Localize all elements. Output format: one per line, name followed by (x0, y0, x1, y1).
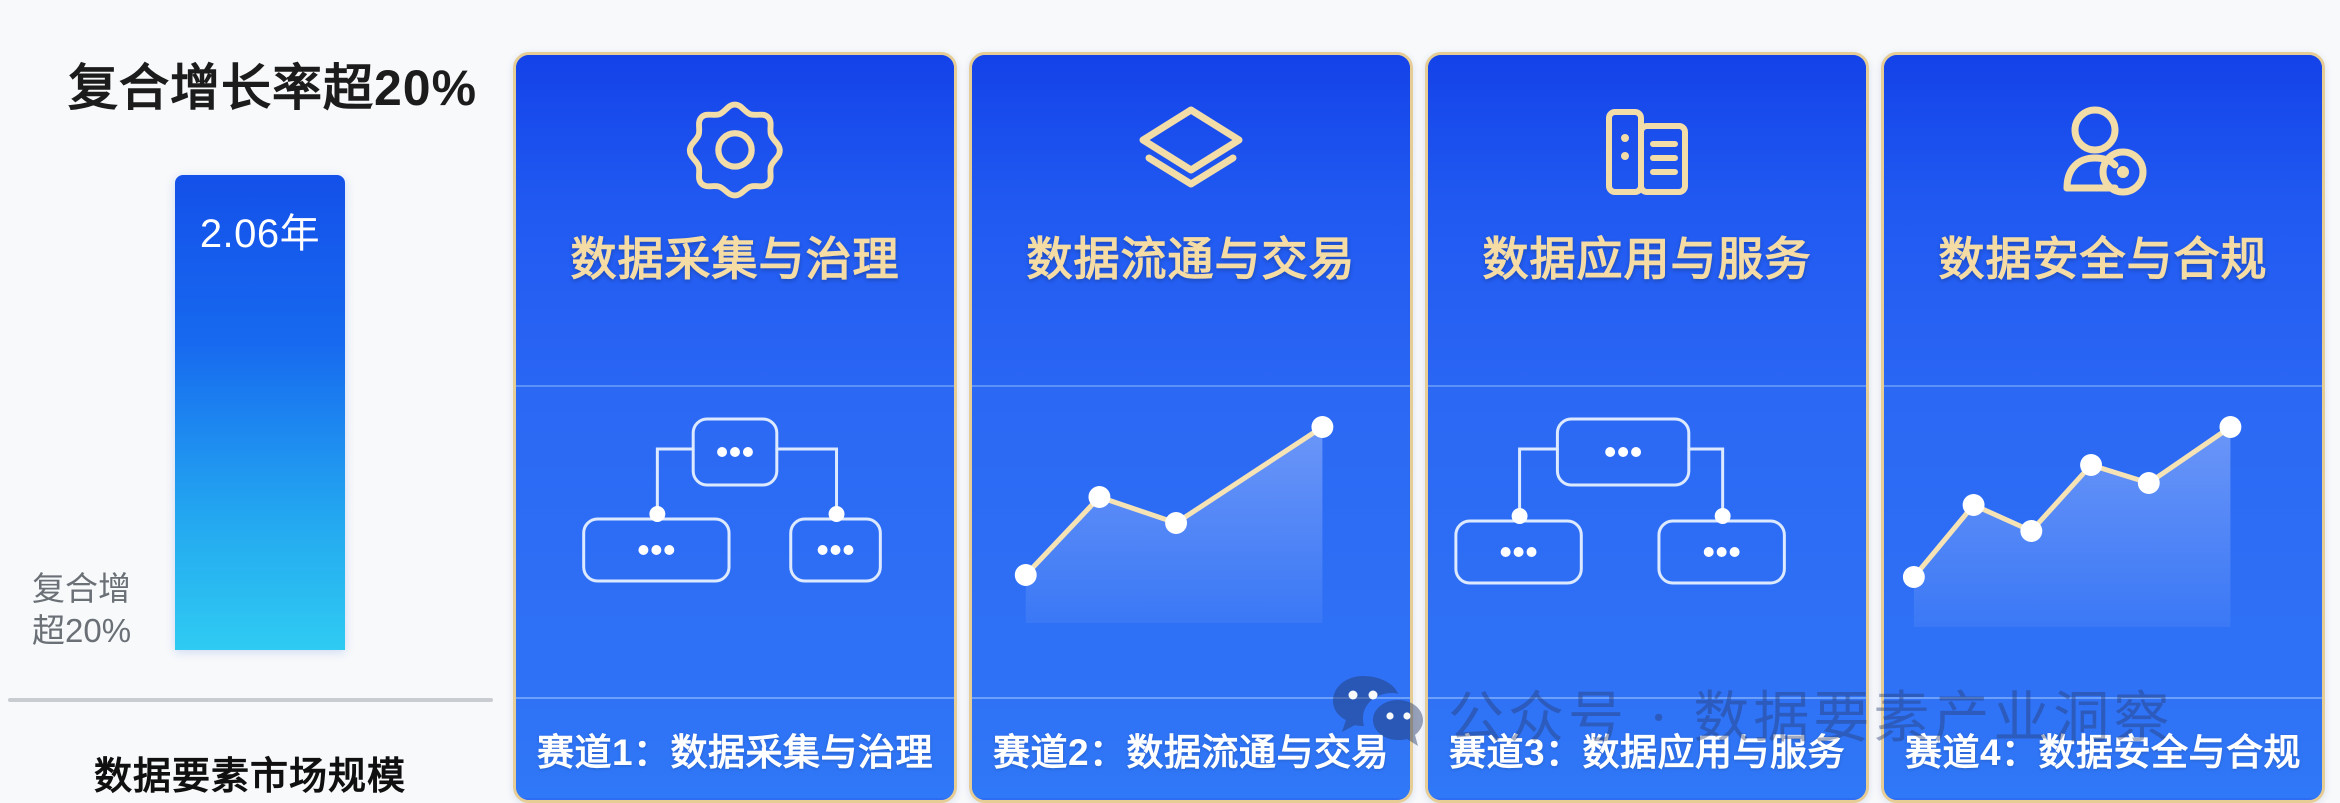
card-visual-1 (516, 385, 954, 697)
track-cards-row: 数据采集与治理 赛道1：数据采集与治 (513, 52, 2325, 797)
market-size-bar: 2.06年 (175, 175, 345, 650)
market-size-panel: 复合增长率超20% 复合增超20% 2.06年 数据要素市场规模 (0, 0, 500, 801)
card-title-1: 数据采集与治理 (516, 223, 954, 289)
card-footer-label-3: 赛道3：数据应用与服务 (1449, 722, 1845, 776)
card-visual-2 (972, 385, 1410, 697)
bar-value-label: 2.06年 (175, 201, 345, 259)
cagr-note-line-1: 复合增 (32, 570, 131, 607)
market-size-caption: 数据要素市场规模 (0, 745, 500, 800)
card-visual-3 (1428, 385, 1866, 697)
tree-diagram-3 (1428, 387, 1866, 697)
track-card-4[interactable]: 数据安全与合规 (1881, 52, 2325, 803)
track-card-3[interactable]: 数据应用与服务 赛道3：数据应用与服 (1425, 52, 1869, 803)
card-footer-3: 赛道3：数据应用与服务 (1428, 697, 1866, 798)
growth-headline: 复合增长率超20% (68, 48, 488, 120)
card-header-2: 数据流通与交易 (972, 55, 1410, 385)
card-title-2: 数据流通与交易 (972, 223, 1410, 289)
card-footer-2: 赛道2：数据流通与交易 (972, 697, 1410, 798)
card-footer-4: 赛道4：数据安全与合规 (1884, 697, 2322, 798)
layers-icon (972, 97, 1410, 207)
card-header-4: 数据安全与合规 (1884, 55, 2322, 385)
card-header-1: 数据采集与治理 (516, 55, 954, 385)
chart-baseline (8, 698, 493, 702)
user-security-icon (1884, 97, 2322, 207)
document-list-icon (1428, 97, 1866, 207)
gear-icon (516, 97, 954, 207)
cagr-note-label: 复合增超20% (32, 568, 162, 652)
card-title-3: 数据应用与服务 (1428, 223, 1866, 289)
line-chart-4 (1884, 387, 2322, 697)
card-title-4: 数据安全与合规 (1884, 223, 2322, 289)
track-card-1[interactable]: 数据采集与治理 赛道1：数据采集与治 (513, 52, 957, 803)
card-footer-label-1: 赛道1：数据采集与治理 (537, 722, 933, 776)
card-footer-label-2: 赛道2：数据流通与交易 (993, 722, 1389, 776)
line-chart-2 (972, 387, 1410, 697)
card-footer-label-4: 赛道4：数据安全与合规 (1905, 722, 2301, 776)
tree-diagram-1 (516, 387, 954, 697)
track-card-2[interactable]: 数据流通与交易 赛道2：数据 (969, 52, 1413, 803)
card-header-3: 数据应用与服务 (1428, 55, 1866, 385)
card-footer-1: 赛道1：数据采集与治理 (516, 697, 954, 798)
market-size-bar-chart: 复合增超20% 2.06年 (0, 150, 500, 710)
card-visual-4 (1884, 385, 2322, 697)
cagr-note-line-2: 超20% (32, 612, 131, 649)
